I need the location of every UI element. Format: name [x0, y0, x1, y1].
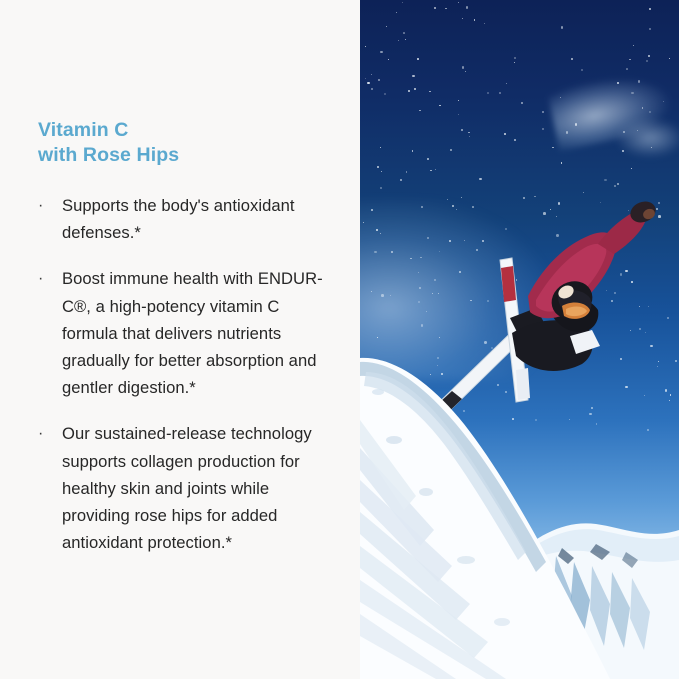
benefit-text: Boost immune health with ENDUR-C®, a hig…: [62, 265, 338, 401]
benefit-text: Supports the body's antioxidant defenses…: [62, 192, 338, 246]
benefit-item: · Supports the body's antioxidant defens…: [38, 192, 338, 246]
product-heading-line1: Vitamin C: [38, 118, 179, 143]
product-heading: Vitamin C with Rose Hips: [38, 118, 179, 168]
benefit-item: · Boost immune health with ENDUR-C®, a h…: [38, 265, 338, 401]
benefit-item: · Our sustained-release technology suppo…: [38, 420, 338, 556]
groomed-snow-ridge: [360, 358, 610, 679]
bullet-icon: ·: [38, 420, 52, 447]
snow-landscape: [360, 0, 679, 679]
product-heading-line2: with Rose Hips: [38, 143, 179, 168]
bullet-icon: ·: [38, 192, 52, 219]
benefit-text: Our sustained-release technology support…: [62, 420, 338, 556]
lifestyle-photo: [360, 0, 679, 679]
product-feature-card: Vitamin C with Rose Hips · Supports the …: [0, 0, 679, 679]
benefits-list: · Supports the body's antioxidant defens…: [38, 192, 338, 556]
bullet-icon: ·: [38, 265, 52, 292]
text-panel: Vitamin C with Rose Hips · Supports the …: [0, 0, 360, 679]
